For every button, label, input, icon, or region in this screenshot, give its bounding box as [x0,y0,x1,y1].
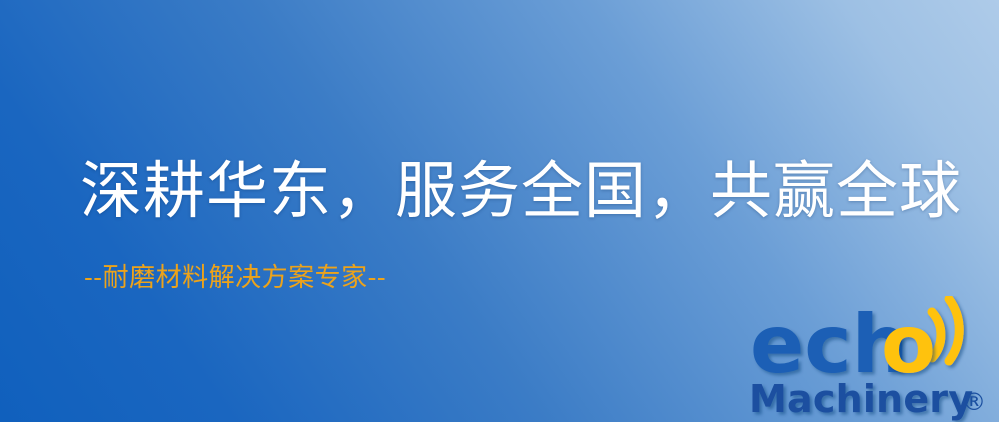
echo-machinery-logo: ech o Machinery ® [744,296,996,422]
logo-wordmark-machinery: Machinery [749,377,973,421]
banner-headline: 深耕华东，服务全国，共赢全球 [80,152,962,230]
signal-arc-outer [949,299,959,361]
banner-subtitle: --耐磨材料解决方案专家-- [84,262,386,294]
signal-arcs-icon [932,299,959,361]
registered-trademark-icon: ® [962,388,986,416]
hero-banner: 深耕华东，服务全国，共赢全球 --耐磨材料解决方案专家-- ech o [0,0,999,422]
